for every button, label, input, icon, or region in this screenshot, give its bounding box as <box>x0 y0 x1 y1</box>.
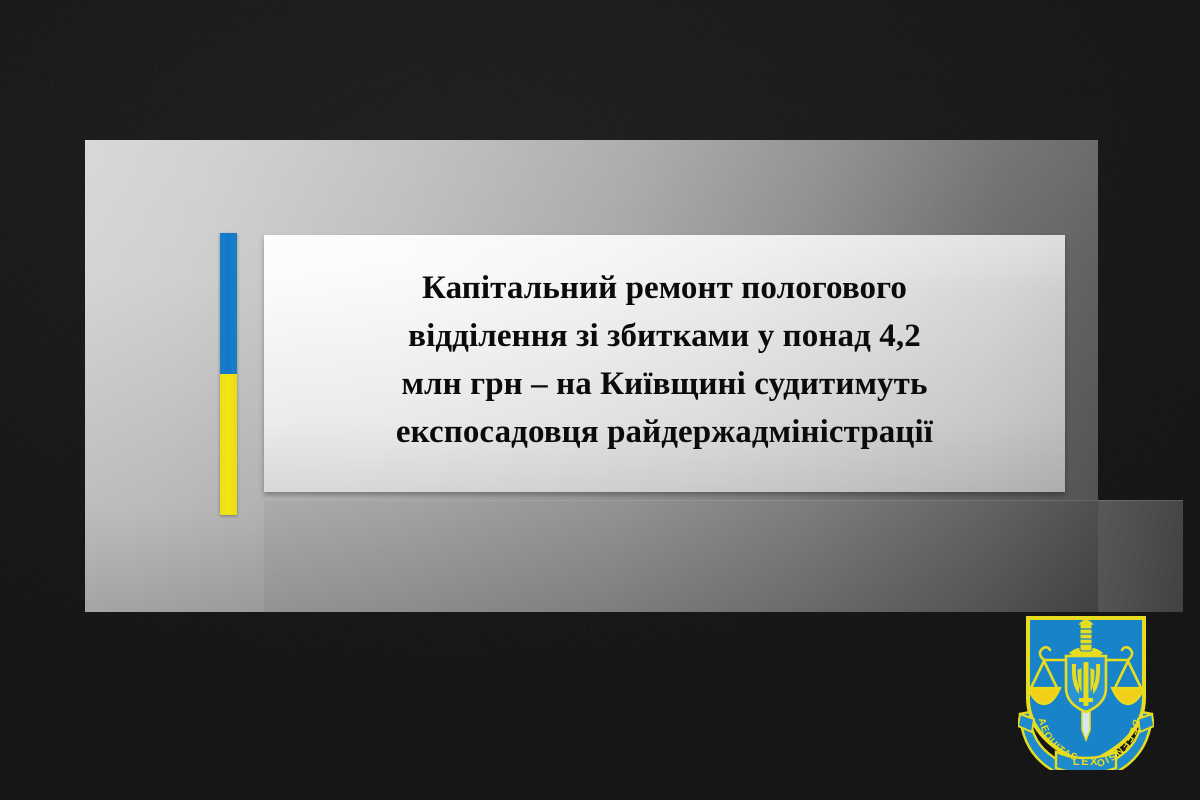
slide-canvas: Капітальний ремонт пологового відділення… <box>0 0 1200 800</box>
headline-line-4: експосадовця райдержадміністрації <box>315 408 1015 456</box>
lower-gray-panel <box>264 500 1183 612</box>
flag-yellow-stripe <box>220 374 237 515</box>
page-title: Капітальний ремонт пологового відділення… <box>315 264 1015 464</box>
flag-blue-stripe <box>220 233 237 374</box>
headline-line-3: млн грн – на Київщині судитимуть <box>315 360 1015 408</box>
prosecutor-general-office-emblem: AEQUITAS DEFENSIO LEX <box>1018 612 1154 770</box>
motto-center-text: LEX <box>1073 756 1099 768</box>
headline-line-2: відділення зі збитками у понад 4,2 <box>315 312 1015 360</box>
ukrainian-flag-bar <box>220 233 237 515</box>
headline-card: Капітальний ремонт пологового відділення… <box>264 235 1065 492</box>
headline-line-1: Капітальний ремонт пологового <box>315 264 1015 312</box>
tryzub-shield-icon <box>1066 656 1106 712</box>
